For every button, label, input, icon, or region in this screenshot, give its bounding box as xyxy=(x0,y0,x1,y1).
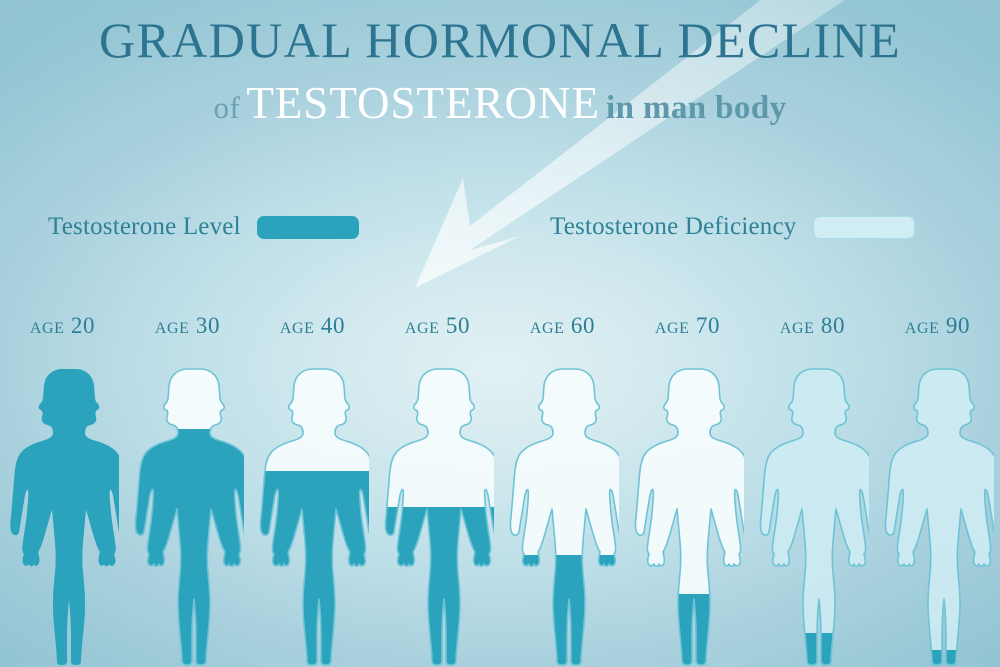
body-figure-age-50 xyxy=(375,362,500,667)
body-silhouette-svg xyxy=(507,367,619,667)
age-label-age-50: AGE 50 xyxy=(375,313,500,347)
body-figure-age-60 xyxy=(500,362,625,667)
legend-label-level: Testosterone Level xyxy=(48,213,241,241)
body-silhouette-svg xyxy=(257,367,369,667)
age-label-age-20: AGE 20 xyxy=(0,313,125,347)
subtitle-suffix: in man body xyxy=(606,90,786,126)
body-silhouette-svg xyxy=(7,367,119,667)
age-label-age-80: AGE 80 xyxy=(750,313,875,347)
legend-swatch-level xyxy=(257,216,359,239)
body-silhouette-svg xyxy=(882,367,994,667)
age-label-age-60: AGE 60 xyxy=(500,313,625,347)
subtitle-highlight: TESTOSTERONE xyxy=(240,78,606,128)
page-title: GRADUAL HORMONAL DECLINE xyxy=(0,0,1000,67)
infographic-root: GRADUAL HORMONAL DECLINE ofTESTOSTERONEi… xyxy=(0,0,1000,667)
legend-item-level: Testosterone Level xyxy=(48,213,359,241)
body-figure-age-80 xyxy=(750,362,875,667)
body-figure-age-20 xyxy=(0,362,125,667)
body-figure-age-70 xyxy=(625,362,750,667)
age-label-row: AGE 20AGE 30AGE 40AGE 50AGE 60AGE 70AGE … xyxy=(0,313,1000,347)
body-figure-age-40 xyxy=(250,362,375,667)
page-subtitle: ofTESTOSTERONEin man body xyxy=(0,67,1000,129)
body-silhouette-svg xyxy=(632,367,744,667)
legend-swatch-deficiency xyxy=(813,216,915,239)
subtitle-prefix: of xyxy=(214,90,241,125)
body-silhouette-svg xyxy=(757,367,869,667)
body-silhouette-svg xyxy=(382,367,494,667)
legend: Testosterone Level Testosterone Deficien… xyxy=(0,213,1000,247)
body-figure-age-30 xyxy=(125,362,250,667)
age-label-age-90: AGE 90 xyxy=(875,313,1000,347)
age-label-age-30: AGE 30 xyxy=(125,313,250,347)
title-block: GRADUAL HORMONAL DECLINE ofTESTOSTERONEi… xyxy=(0,0,1000,129)
body-silhouette-svg xyxy=(132,367,244,667)
body-figure-age-90 xyxy=(875,362,1000,667)
legend-label-deficiency: Testosterone Deficiency xyxy=(550,213,797,241)
age-label-age-40: AGE 40 xyxy=(250,313,375,347)
legend-item-deficiency: Testosterone Deficiency xyxy=(550,213,915,241)
age-label-age-70: AGE 70 xyxy=(625,313,750,347)
body-figure-row xyxy=(0,362,1000,667)
